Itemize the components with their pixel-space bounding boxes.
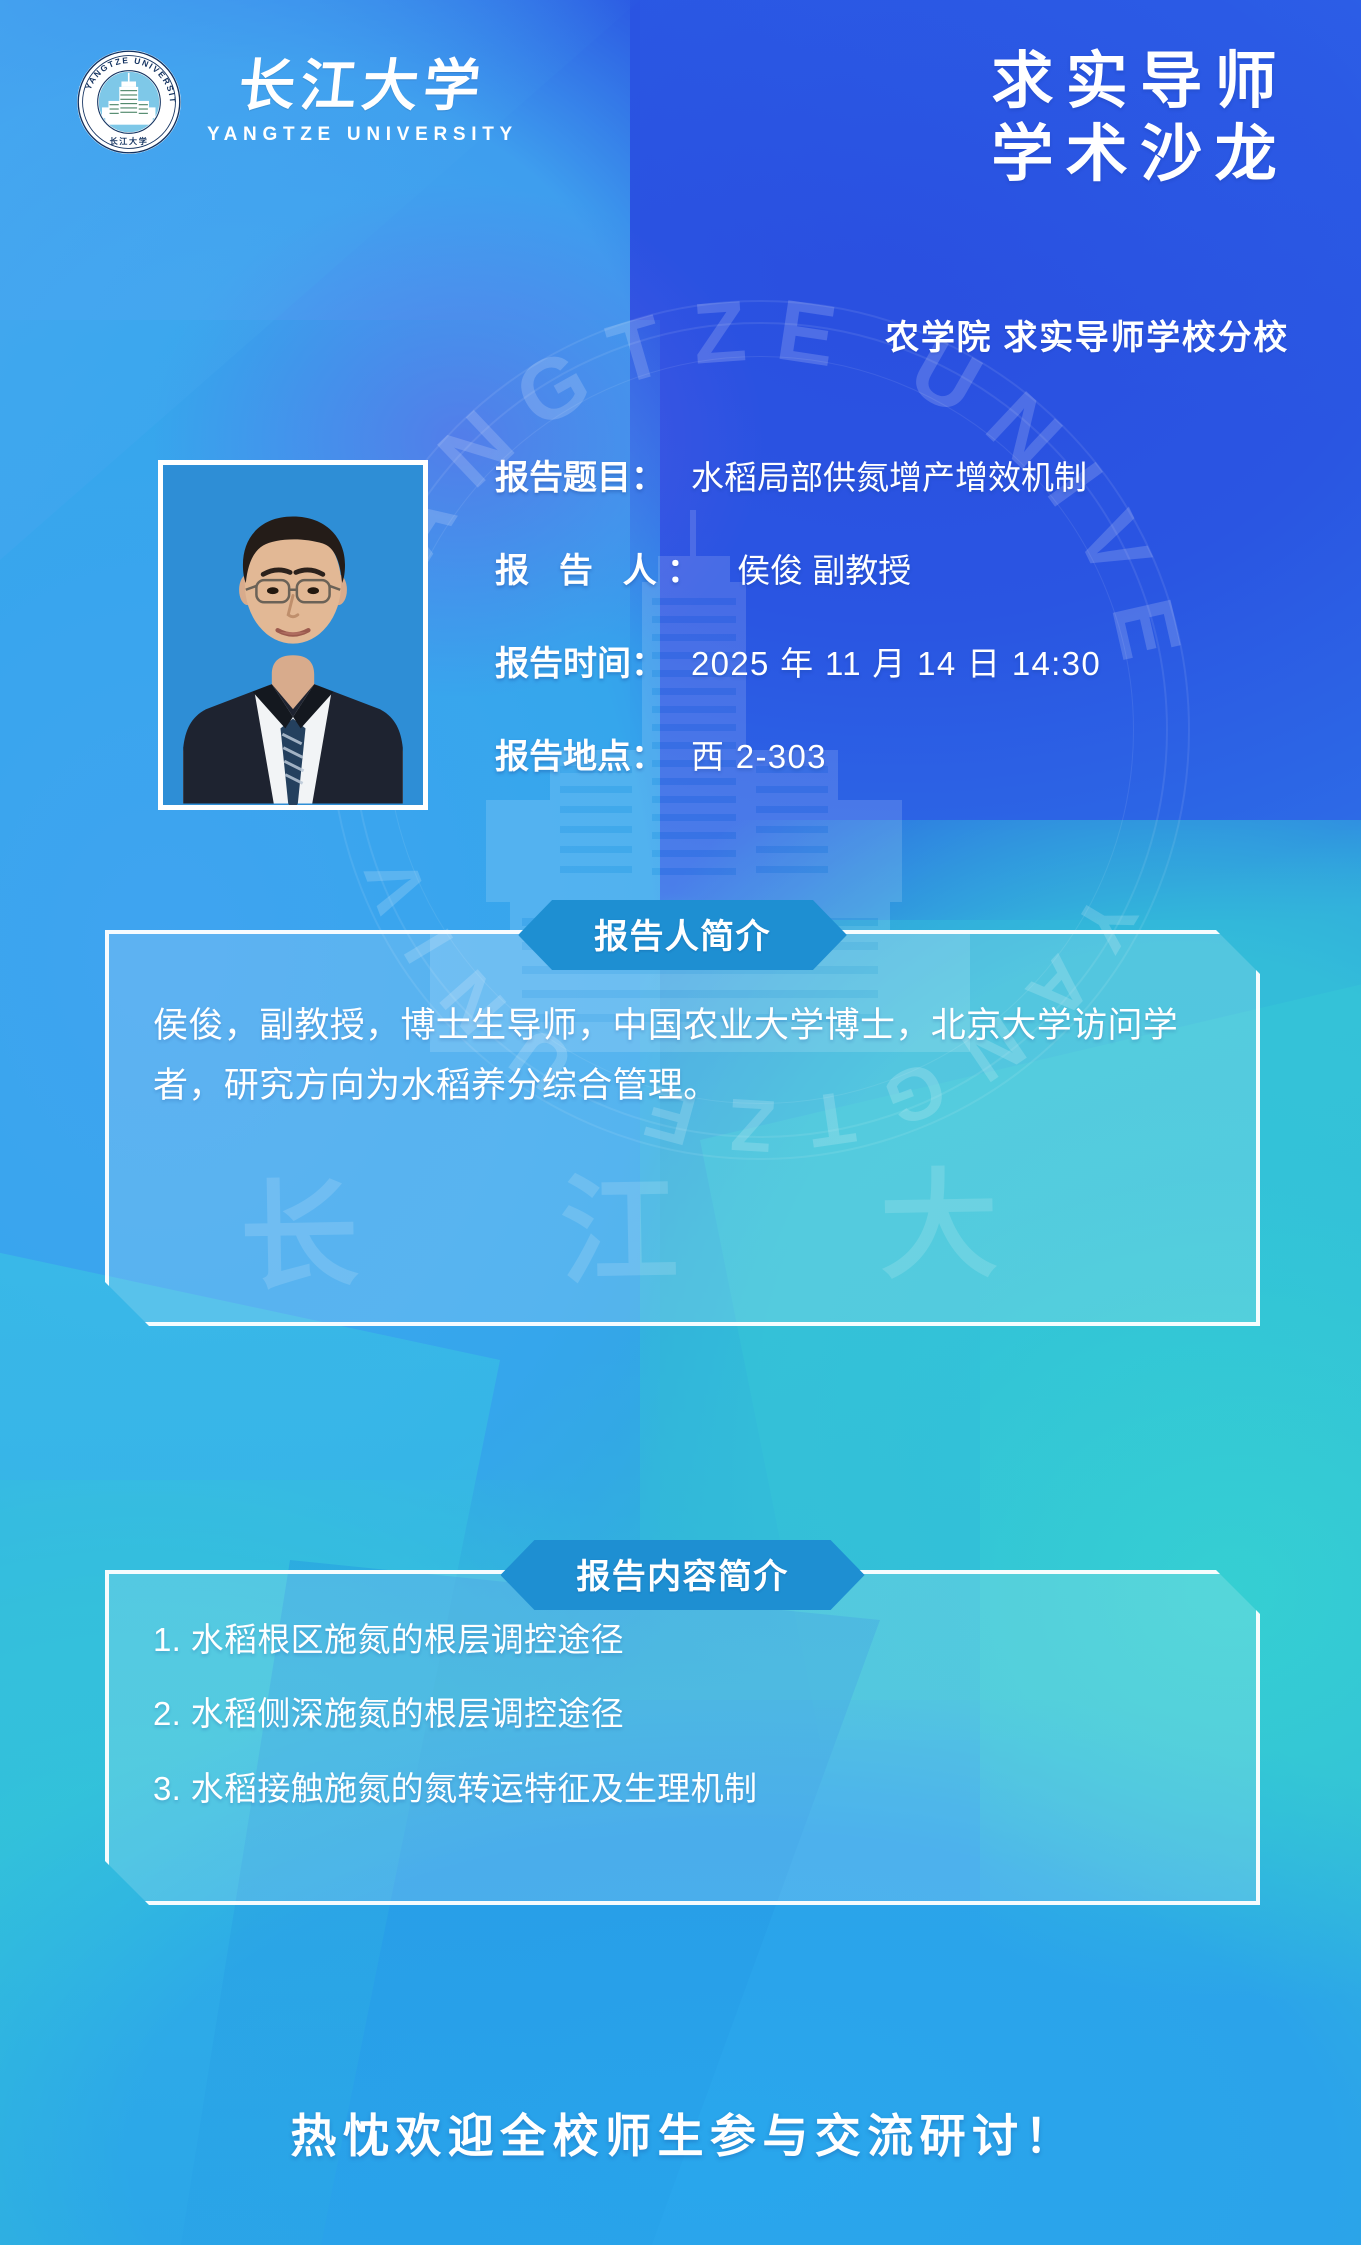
info-value-speaker: 侯俊 副教授	[737, 544, 911, 592]
info-row-topic: 报告题目： 水稻局部供氮增产增效机制	[495, 450, 1301, 499]
university-seal-icon: YANGTZE UNIVERSITY 长江大学	[75, 48, 183, 156]
info-value-time: 2025 年 11 月 14 日 14:30	[691, 637, 1101, 685]
info-label-speaker: 报 告 人：	[495, 543, 711, 592]
event-info-section: 报告题目： 水稻局部供氮增产增效机制 报 告 人： 侯俊 副教授 报告时间： 2…	[0, 450, 1361, 870]
poster-header: YANGTZE UNIVERSITY 长江大学 长江大学 YANGTZE UNI…	[0, 0, 1361, 300]
poster-root: YANGTZE UNIVERSITY YANGTZE UNIV	[0, 0, 1361, 2245]
list-item: 3. 水稻接触施氮的氮转运特征及生理机制	[153, 1771, 1212, 1807]
list-item: 1. 水稻根区施氮的根层调控途径	[153, 1622, 1212, 1658]
poster-title-line-1: 求实导师	[979, 44, 1289, 117]
poster-subtitle: 农学院 求实导师学校分校	[885, 310, 1289, 359]
info-value-location: 西 2-303	[691, 730, 827, 778]
list-item: 2. 水稻侧深施氮的根层调控途径	[153, 1696, 1212, 1732]
university-logo: YANGTZE UNIVERSITY 长江大学 长江大学 YANGTZE UNI…	[75, 48, 518, 156]
speaker-photo	[158, 460, 428, 810]
talk-content-heading: 报告内容简介	[500, 1540, 864, 1610]
university-name-en: YANGTZE UNIVERSITY	[207, 124, 518, 146]
university-name-cn: 长江大学	[236, 58, 488, 114]
svg-text:长江大学: 长江大学	[110, 136, 149, 146]
talk-content-box: 1. 水稻根区施氮的根层调控途径 2. 水稻侧深施氮的根层调控途径 3. 水稻接…	[105, 1570, 1260, 1905]
info-value-topic: 水稻局部供氮增产增效机制	[691, 451, 1087, 499]
info-label-time: 报告时间：	[495, 636, 665, 685]
speaker-bio-heading: 报告人简介	[518, 900, 847, 970]
speaker-bio-panel: 报告人简介 侯俊，副教授，博士生导师，中国农业大学博士，北京大学访问学者，研究方…	[105, 930, 1260, 1326]
talk-content-panel: 报告内容简介 1. 水稻根区施氮的根层调控途径 2. 水稻侧深施氮的根层调控途径…	[105, 1570, 1260, 1905]
poster-title-line-2: 学术沙龙	[979, 117, 1289, 190]
poster-footer: 热忱欢迎全校师生参与交流研讨！	[0, 2100, 1361, 2166]
info-label-topic: 报告题目：	[495, 450, 665, 499]
event-info-rows: 报告题目： 水稻局部供氮增产增效机制 报 告 人： 侯俊 副教授 报告时间： 2…	[495, 450, 1301, 778]
info-label-location: 报告地点：	[495, 729, 665, 778]
speaker-bio-box: 侯俊，副教授，博士生导师，中国农业大学博士，北京大学访问学者，研究方向为水稻养分…	[105, 930, 1260, 1326]
info-row-location: 报告地点： 西 2-303	[495, 729, 1301, 778]
poster-title: 求实导师 学术沙龙	[979, 44, 1289, 190]
university-wordmark: 长江大学 YANGTZE UNIVERSITY	[207, 58, 518, 146]
info-row-speaker: 报 告 人： 侯俊 副教授	[495, 543, 1301, 592]
info-row-time: 报告时间： 2025 年 11 月 14 日 14:30	[495, 636, 1301, 685]
